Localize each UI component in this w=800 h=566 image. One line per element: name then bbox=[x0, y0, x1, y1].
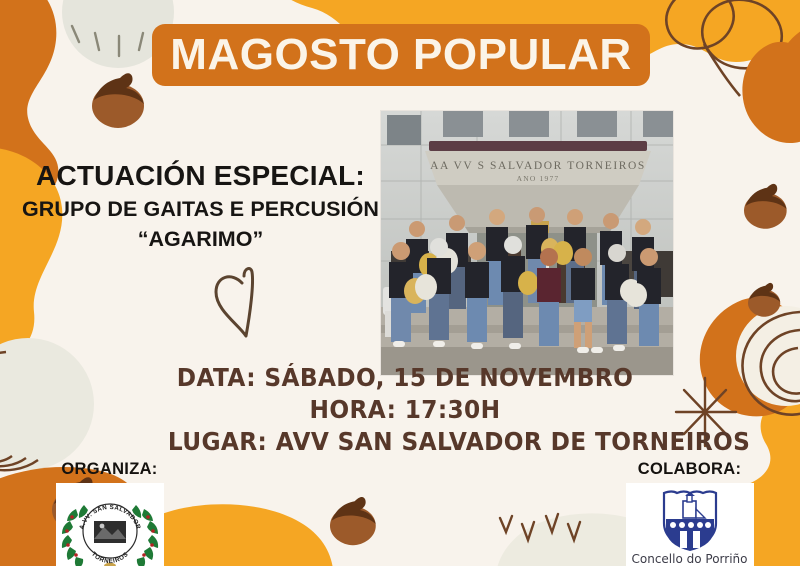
organiza-credit: ORGANIZA: bbox=[37, 460, 182, 566]
poster-title-banner: MAGOSTO POPULAR bbox=[152, 24, 650, 86]
event-place: LUGAR: AVV SAN SALVADOR DE TORNEIROS bbox=[168, 426, 642, 458]
building-sign-text: AA VV S SALVADOR TORNEIROS bbox=[430, 160, 646, 172]
poster-canvas: MAGOSTO POPULAR ACTUACIÓN ESPECIAL: GRUP… bbox=[0, 0, 800, 566]
event-time: HORA: 17:30H bbox=[168, 394, 642, 426]
headline-line-2: GRUPO DE GAITAS E PERCUSIÓN bbox=[8, 196, 393, 223]
headline-line-3: “AGARIMO” bbox=[8, 226, 393, 253]
concello-do-porrino-shield-icon bbox=[654, 489, 726, 551]
avv-san-salvador-logo-icon: A.VV. SAN SALVADOR TORNEIROS bbox=[56, 483, 164, 566]
organiza-logo: A.VV. SAN SALVADOR TORNEIROS bbox=[56, 483, 164, 566]
event-photo: AA VV S SALVADOR TORNEIROS ANO 1977 bbox=[381, 111, 673, 375]
colabora-logo: Concello do Porriño bbox=[626, 483, 754, 566]
organiza-label: ORGANIZA: bbox=[37, 460, 182, 479]
headline-line-1: ACTUACIÓN ESPECIAL: bbox=[8, 160, 393, 191]
colabora-credit: COLABORA: bbox=[602, 460, 777, 566]
page-title: MAGOSTO POPULAR bbox=[170, 33, 631, 77]
event-date: DATA: SÁBADO, 15 DE NOVEMBRO bbox=[168, 362, 642, 394]
colabora-logo-name: Concello do Porriño bbox=[632, 552, 748, 566]
colabora-label: COLABORA: bbox=[602, 460, 777, 479]
headline-block: ACTUACIÓN ESPECIAL: GRUPO DE GAITAS E PE… bbox=[8, 160, 393, 253]
event-details-block: DATA: SÁBADO, 15 DE NOVEMBRO HORA: 17:30… bbox=[150, 362, 660, 458]
event-photo-illustration: AA VV S SALVADOR TORNEIROS ANO 1977 bbox=[381, 111, 673, 375]
building-year-text: ANO 1977 bbox=[517, 174, 560, 183]
